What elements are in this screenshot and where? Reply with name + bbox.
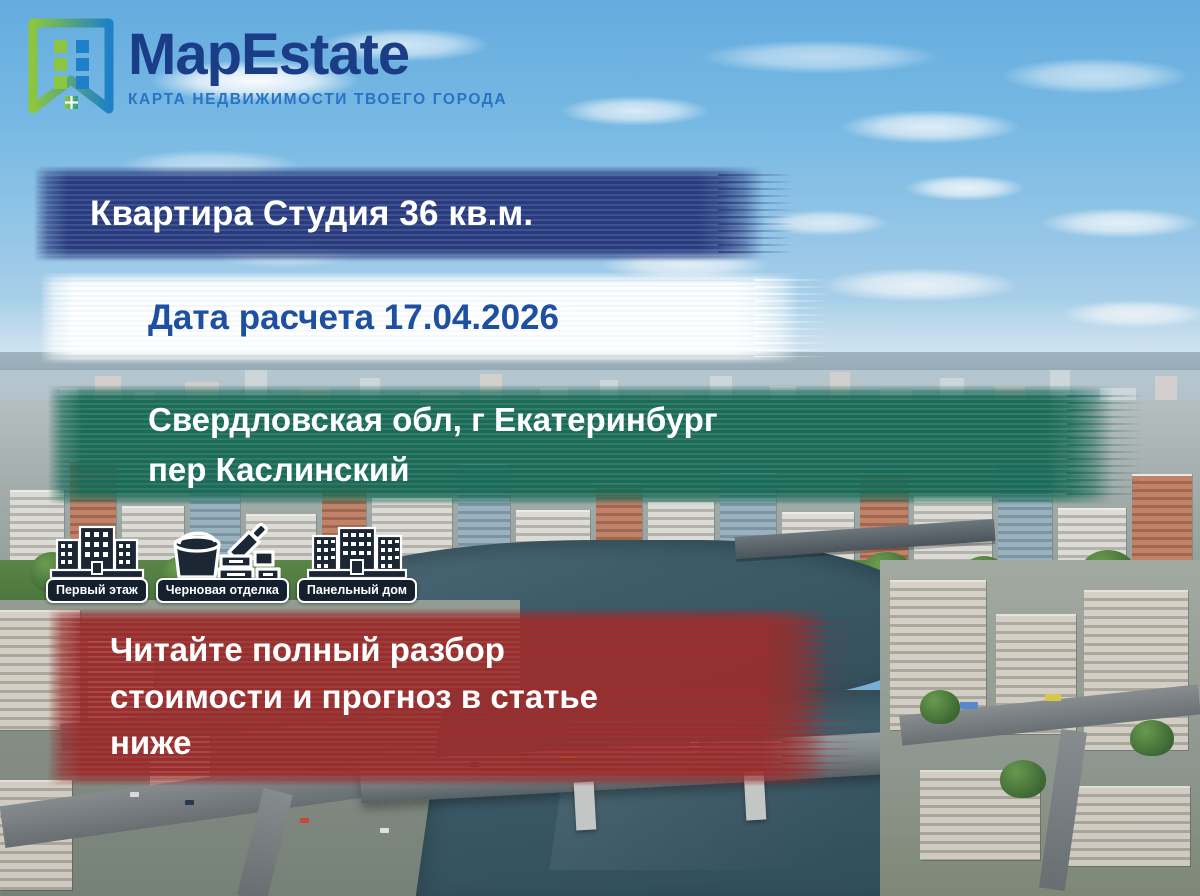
paint-bucket-trowel-icon bbox=[163, 522, 281, 582]
cta-text: Читайте полный разбор стоимости и прогно… bbox=[48, 627, 828, 768]
banner-call-to-action: Читайте полный разбор стоимости и прогно… bbox=[48, 608, 828, 786]
brand-tagline: КАРТА НЕДВИЖИМОСТИ ТВОЕГО ГОРОДА bbox=[128, 92, 507, 108]
banner-calculation-date: Дата расчета 17.04.2026 bbox=[40, 272, 800, 364]
calculation-date-text: Дата расчета 17.04.2026 bbox=[40, 298, 800, 338]
property-title-text: Квартира Студия 36 кв.м. bbox=[34, 194, 764, 234]
apartment-building-icon bbox=[49, 524, 145, 582]
badge-label-first-floor: Первый этаж bbox=[46, 578, 148, 603]
badge-panel-house[interactable]: Панельный дом bbox=[297, 524, 417, 603]
bookmark-building-icon bbox=[28, 18, 114, 114]
badge-first-floor[interactable]: Первый этаж bbox=[46, 524, 148, 603]
address-text: Свердловская обл, г Екатеринбург пер Кас… bbox=[48, 395, 1113, 495]
banner-property-title: Квартира Студия 36 кв.м. bbox=[34, 166, 764, 262]
banner-address: Свердловская обл, г Екатеринбург пер Кас… bbox=[48, 385, 1113, 505]
cta-line-1: Читайте полный разбор bbox=[110, 627, 828, 674]
badge-label-panel-house: Панельный дом bbox=[297, 578, 417, 603]
brand-logo[interactable]: MapEstate КАРТА НЕДВИЖИМОСТИ ТВОЕГО ГОРО… bbox=[28, 18, 507, 114]
brand-name: MapEstate bbox=[128, 25, 507, 86]
badge-label-rough-finish: Черновая отделка bbox=[156, 578, 289, 603]
cta-line-3: ниже bbox=[110, 720, 828, 767]
brand-name-part1: Map bbox=[128, 22, 241, 87]
badge-rough-finish[interactable]: Черновая отделка bbox=[156, 522, 289, 603]
feature-badges: Первый этаж bbox=[46, 522, 417, 603]
address-line-2: пер Каслинский bbox=[148, 445, 1113, 495]
promo-card: MapEstate КАРТА НЕДВИЖИМОСТИ ТВОЕГО ГОРО… bbox=[0, 0, 1200, 896]
address-line-1: Свердловская обл, г Екатеринбург bbox=[148, 395, 1113, 445]
panel-houses-icon bbox=[307, 524, 407, 582]
cta-line-2: стоимости и прогноз в статье bbox=[110, 674, 828, 721]
brand-name-part2: Estate bbox=[241, 22, 409, 87]
